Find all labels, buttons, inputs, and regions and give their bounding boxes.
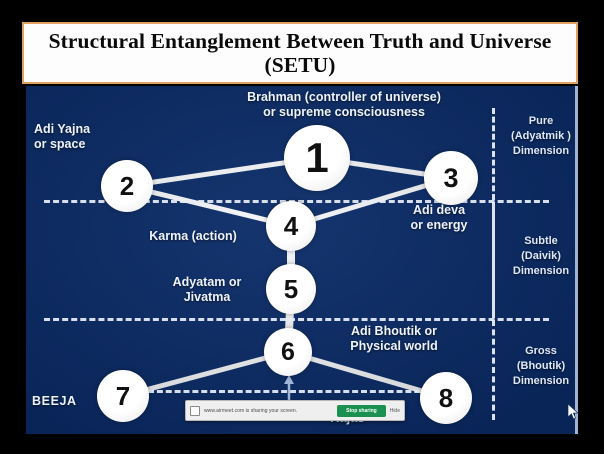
node-2-label: 2: [120, 171, 134, 202]
label-brahman: Brahman (controller of universe) or supr…: [224, 90, 464, 121]
node-6[interactable]: 6: [264, 328, 312, 376]
mouse-cursor-icon: [568, 404, 579, 420]
node-5[interactable]: 5: [266, 264, 316, 314]
stop-sharing-button[interactable]: Stop sharing: [337, 405, 386, 417]
slide-frame: Structural Entanglement Between Truth an…: [0, 0, 604, 454]
screen-share-notification-bar[interactable]: www.airmeet.com is sharing your screen. …: [185, 400, 405, 421]
hide-button[interactable]: Hide: [390, 408, 400, 414]
node-3-label: 3: [443, 163, 458, 194]
label-adyatam: Adyatam or Jivatma: [151, 275, 263, 306]
upward-arrow-icon: [281, 374, 297, 402]
node-4-label: 4: [284, 211, 298, 242]
label-adi-deva: Adi deva or energy: [384, 203, 494, 234]
label-adi-bhoutik: Adi Bhoutik or Physical world: [324, 324, 464, 355]
title-line-2: (SETU): [264, 53, 335, 77]
diagram-canvas: 1 2 3 4 5 6 7 8 Brahman (controller of u…: [26, 86, 578, 434]
node-2[interactable]: 2: [101, 160, 153, 212]
node-1-label: 1: [305, 134, 328, 182]
rail-pure: [492, 108, 495, 200]
separator-subtle-gross: [44, 318, 549, 321]
node-5-label: 5: [284, 274, 298, 305]
label-adi-yajna: Adi Yajna or space: [34, 122, 138, 153]
node-4[interactable]: 4: [266, 201, 316, 251]
node-1[interactable]: 1: [284, 125, 350, 191]
title-card: Structural Entanglement Between Truth an…: [22, 22, 578, 84]
label-karma: Karma (action): [126, 229, 260, 244]
label-dimension-gross: Gross (Bhoutik) Dimension: [504, 344, 578, 389]
node-7[interactable]: 7: [97, 370, 149, 422]
node-8[interactable]: 8: [420, 372, 472, 424]
rail-gross: [492, 320, 495, 420]
label-dimension-pure: Pure (Adyatmik ) Dimension: [504, 114, 578, 159]
screen-share-icon: [190, 406, 200, 416]
node-8-label: 8: [439, 383, 453, 414]
node-7-label: 7: [116, 381, 130, 412]
node-3[interactable]: 3: [424, 151, 478, 205]
node-6-label: 6: [281, 338, 295, 367]
title-line-1: Structural Entanglement Between Truth an…: [49, 29, 552, 53]
label-beeja: BEEJA: [32, 394, 98, 409]
screen-share-message: www.airmeet.com is sharing your screen.: [204, 408, 333, 414]
page-title: Structural Entanglement Between Truth an…: [43, 29, 558, 77]
label-dimension-subtle: Subtle (Daivik) Dimension: [504, 234, 578, 279]
